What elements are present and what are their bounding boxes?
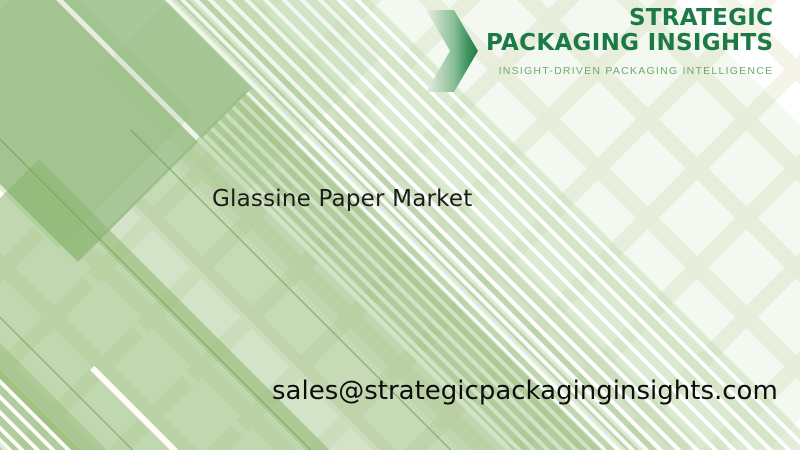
report-title: Glassine Paper Market — [212, 185, 472, 213]
brand-name-line-1: STRATEGIC — [629, 6, 773, 31]
brand-tagline: INSIGHT-DRIVEN PACKAGING INTELLIGENCE — [499, 65, 774, 77]
brand-name-line-2: PACKAGING INSIGHTS — [486, 31, 773, 56]
contact-email: sales@strategicpackaginginsights.com — [272, 375, 778, 407]
deco-band-solid-5 — [0, 0, 193, 248]
chevron-logo-mark — [424, 8, 480, 94]
deco-band-solid-accent — [0, 364, 167, 450]
presentation-slide: STRATEGIC PACKAGING INSIGHTS INSIGHT-DRI… — [0, 0, 800, 450]
deco-band-solid-1 — [0, 0, 252, 265]
deco-band-striped-4 — [0, 325, 297, 450]
deco-band-striped-3 — [0, 189, 123, 450]
brand-logo: STRATEGIC PACKAGING INSIGHTS INSIGHT-DRI… — [424, 6, 773, 94]
deco-band-solid-2 — [0, 182, 143, 450]
deco-band-solid-6 — [100, 0, 383, 204]
brand-wordmark: STRATEGIC PACKAGING INSIGHTS INSIGHT-DRI… — [486, 6, 773, 77]
